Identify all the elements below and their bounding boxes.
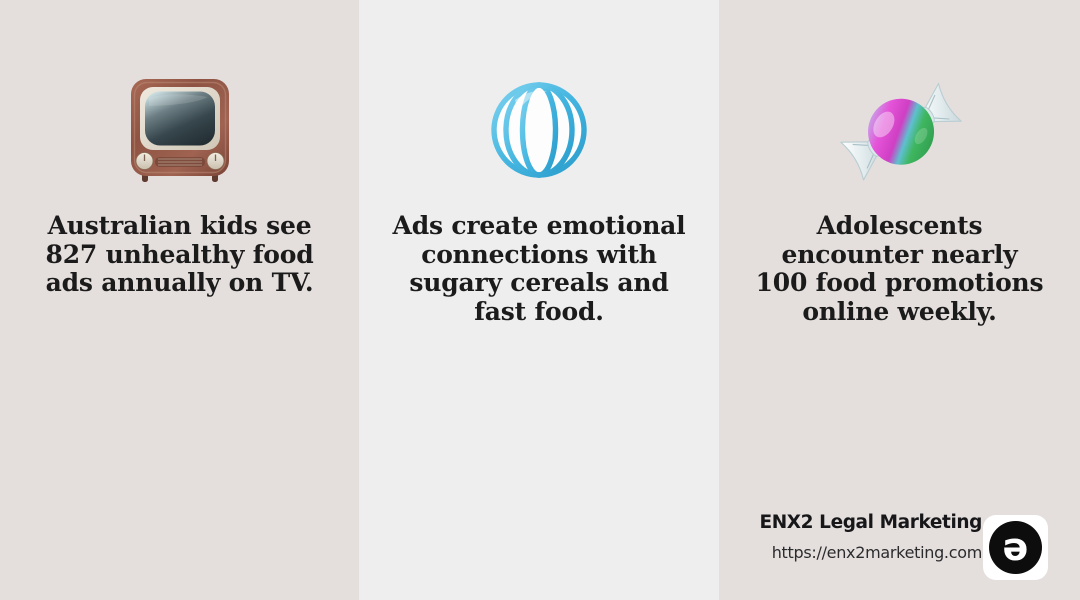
panel-globe: Ads create emotional connections with su… xyxy=(359,0,719,600)
panel-television: Australian kids see 827 unhealthy food a… xyxy=(0,0,359,600)
candy-emoji xyxy=(835,70,965,190)
brand-url[interactable]: https://enx2marketing.com xyxy=(742,540,982,566)
headline-line: encounter nearly xyxy=(741,241,1058,270)
headline-globe: Ads create emotional connections with su… xyxy=(359,212,719,326)
headline-line: Australian kids see xyxy=(22,212,337,241)
logo-schwa-glyph: ə xyxy=(1003,528,1029,566)
television-emoji xyxy=(122,72,238,188)
brand-name: ENX2 Legal Marketing xyxy=(742,510,982,536)
branding-block: ENX2 Legal Marketing https://enx2marketi… xyxy=(740,505,1060,590)
brand-text-group: ENX2 Legal Marketing https://enx2marketi… xyxy=(742,510,982,566)
headline-candy: Adolescents encounter nearly 100 food pr… xyxy=(719,212,1080,326)
headline-line: online weekly. xyxy=(741,298,1058,327)
headline-line: Adolescents xyxy=(741,212,1058,241)
headline-line: fast food. xyxy=(381,298,697,327)
enx2-logo[interactable]: ə xyxy=(983,515,1048,580)
headline-line: Ads create emotional xyxy=(381,212,697,241)
globe-emoji-container xyxy=(359,60,719,200)
candy-emoji-container xyxy=(719,60,1080,200)
globe-with-meridians-emoji xyxy=(485,76,593,184)
television-emoji-container xyxy=(0,60,359,200)
infographic-canvas: Australian kids see 827 unhealthy food a… xyxy=(0,0,1080,600)
headline-line: 100 food promotions xyxy=(741,269,1058,298)
headline-line: ads annually on TV. xyxy=(22,269,337,298)
logo-circle-icon: ə xyxy=(989,521,1042,574)
headline-television: Australian kids see 827 unhealthy food a… xyxy=(0,212,359,298)
headline-line: connections with xyxy=(381,241,697,270)
headline-line: sugary cereals and xyxy=(381,269,697,298)
headline-line: 827 unhealthy food xyxy=(22,241,337,270)
